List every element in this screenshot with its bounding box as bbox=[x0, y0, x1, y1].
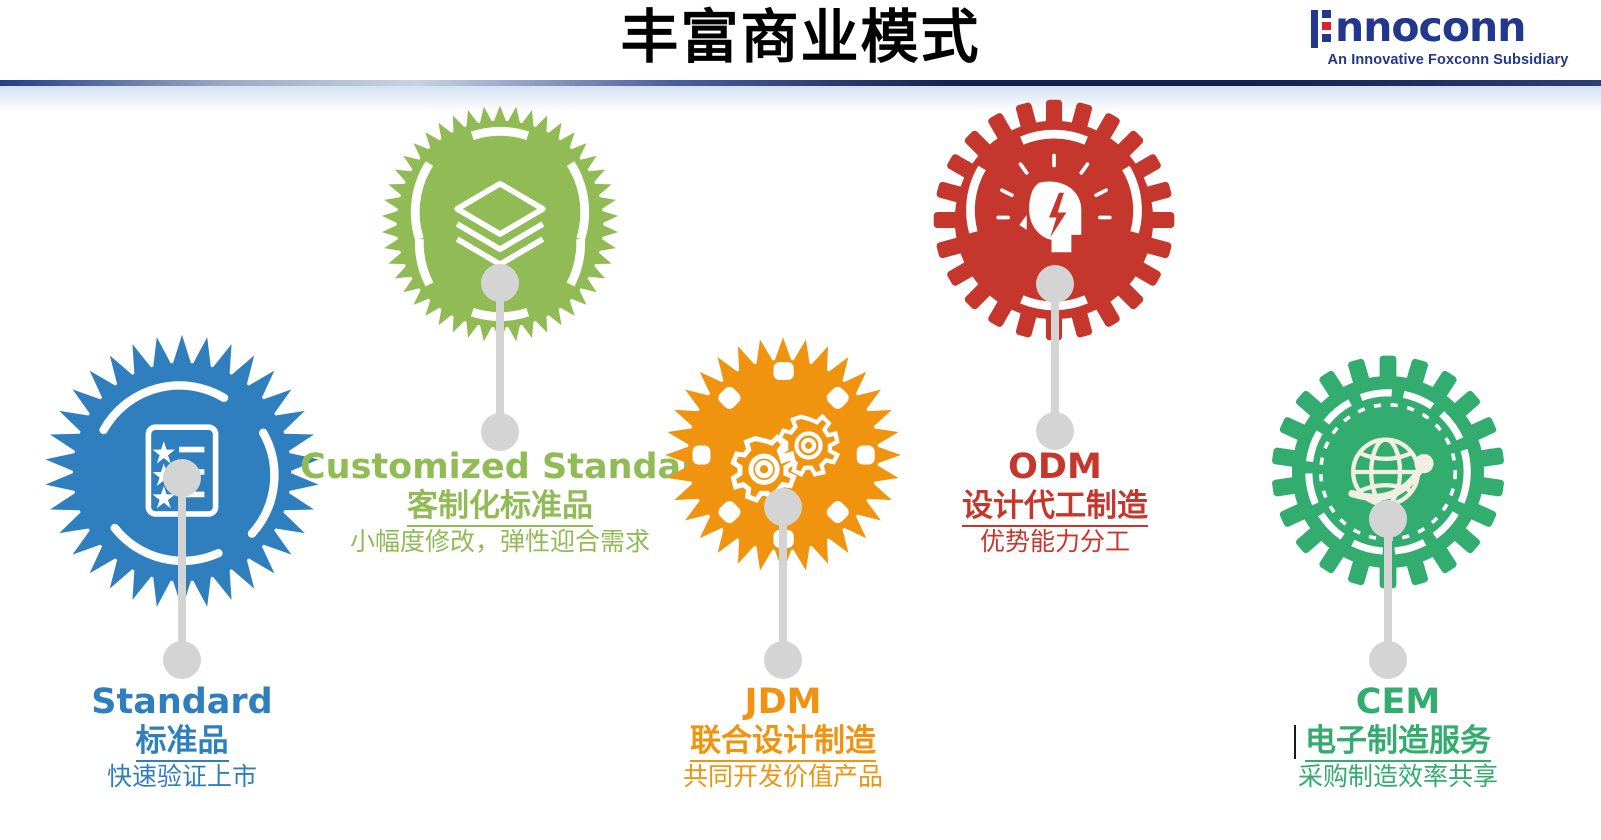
connector-stem bbox=[779, 500, 787, 660]
logo-tagline: An Innovative Foxconn Subsidiary bbox=[1313, 52, 1583, 68]
label-en-standard: Standard bbox=[12, 682, 352, 722]
label-sub-jdm: 共同开发价值产品 bbox=[613, 760, 953, 794]
label-en-jdm: JDM bbox=[613, 682, 953, 722]
connector-dot-bottom bbox=[1036, 412, 1074, 450]
label-cn-customized-standard-text: 客制化标准品 bbox=[407, 488, 593, 527]
logo-wordmark: nnoconn bbox=[1335, 5, 1525, 49]
label-sub-cem: 采购制造效率共享 bbox=[1228, 760, 1568, 794]
connector-dot-bottom bbox=[1369, 641, 1407, 679]
innoconn-logo: nnoconn An Innovative Foxconn Subsidiary bbox=[1311, 8, 1583, 72]
label-en-cem: CEM bbox=[1228, 682, 1568, 722]
label-cn-jdm: 联合设计制造 bbox=[613, 722, 953, 760]
label-cn-odm-text: 设计代工制造 bbox=[962, 488, 1148, 527]
label-cn-customized-standard: 客制化标准品 bbox=[300, 487, 700, 525]
label-group-odm: ODM 设计代工制造 优势能力分工 bbox=[885, 447, 1225, 559]
slide-header: 丰富商业模式 nnoconn An Innovative Foxconn Sub… bbox=[0, 0, 1601, 82]
label-cn-standard: 标准品 bbox=[12, 722, 352, 760]
header-glow bbox=[0, 86, 1601, 112]
label-sub-standard: 快速验证上市 bbox=[12, 760, 352, 794]
label-cn-odm: 设计代工制造 bbox=[885, 487, 1225, 525]
label-en-customized-standard: Customized Standard bbox=[300, 447, 700, 487]
connector-stem bbox=[1384, 512, 1392, 660]
label-group-standard: Standard 标准品 快速验证上市 bbox=[12, 682, 352, 794]
label-group-cem: CEM 电子制造服务 采购制造效率共享 bbox=[1228, 682, 1568, 794]
logo-mark-icon bbox=[1311, 10, 1333, 48]
label-sub-customized-standard: 小幅度修改，弹性迎合需求 bbox=[300, 525, 700, 559]
label-cn-cem: 电子制造服务 bbox=[1228, 722, 1568, 760]
label-sub-odm: 优势能力分工 bbox=[885, 525, 1225, 559]
connector-dot-bottom bbox=[163, 641, 201, 679]
label-cn-cem-text: 电子制造服务 bbox=[1305, 723, 1491, 762]
label-group-jdm: JDM 联合设计制造 共同开发价值产品 bbox=[613, 682, 953, 794]
label-cn-standard-text: 标准品 bbox=[136, 723, 229, 762]
connector-stem bbox=[178, 470, 186, 660]
label-en-odm: ODM bbox=[885, 447, 1225, 487]
connector-stem bbox=[1051, 277, 1059, 423]
connector-dot-bottom bbox=[764, 641, 802, 679]
text-cursor-caret bbox=[1294, 725, 1296, 759]
connector-stem bbox=[496, 276, 504, 424]
label-cn-jdm-text: 联合设计制造 bbox=[690, 723, 876, 762]
connector-dot-bottom bbox=[481, 413, 519, 451]
label-group-customized-standard: Customized Standard 客制化标准品 小幅度修改，弹性迎合需求 bbox=[300, 447, 700, 559]
